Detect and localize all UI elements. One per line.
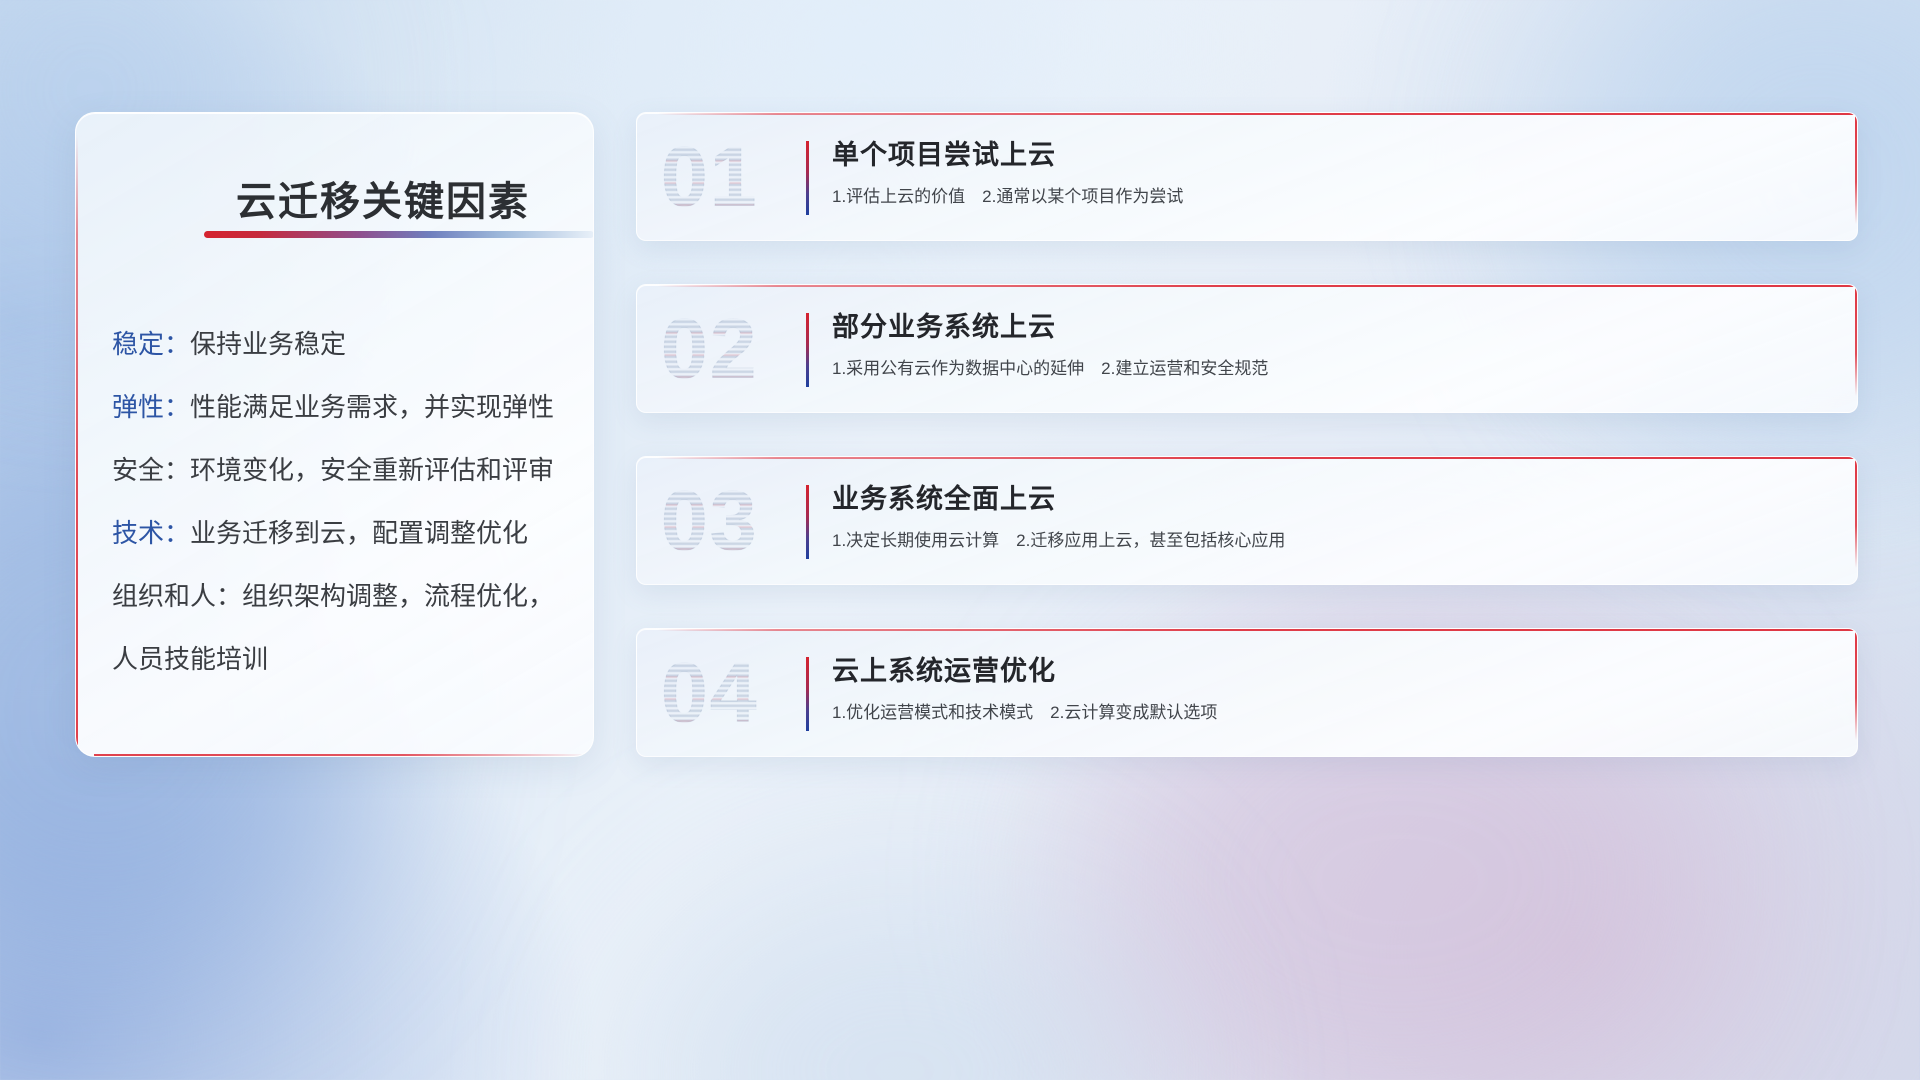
page-title: 云迁移关键因素 [236,169,530,227]
factor-row: 安全：环境变化，安全重新评估和评审 [112,439,569,502]
slide-canvas: 云迁移关键因素 稳定：保持业务稳定 弹性：性能满足业务需求，并实现弹性 安全：环… [0,0,1920,1080]
stage-card-04[interactable]: 04 04 云上系统运营优化 1.优化运营模式和技术模式 2.云计算变成默认选项 [636,628,1858,757]
stage-description: 1.采用公有云作为数据中心的延伸 2.建立运营和安全规范 [832,356,1827,382]
factor-text: 业务迁移到云，配置调整优化 [190,518,528,548]
stage-title: 云上系统运营优化 [832,651,1827,691]
factor-row-continuation: 人员技能培训 [112,628,569,691]
stage-title: 部分业务系统上云 [832,307,1827,347]
factor-label: 安全： [112,455,190,485]
stage-divider-bar [806,313,809,387]
stage-description: 1.评估上云的价值 2.通常以某个项目作为尝试 [832,184,1827,210]
stage-card-02[interactable]: 02 02 部分业务系统上云 1.采用公有云作为数据中心的延伸 2.建立运营和安… [636,284,1858,413]
stage-number-ghost: 02 [661,300,758,397]
factor-text: 人员技能培训 [112,644,268,674]
stage-divider-bar [806,141,809,215]
stage-number-ghost-accent: 02 [661,300,758,397]
factor-list: 稳定：保持业务稳定 弹性：性能满足业务需求，并实现弹性 安全：环境变化，安全重新… [112,313,569,691]
stage-card-03[interactable]: 03 03 业务系统全面上云 1.决定长期使用云计算 2.迁移应用上云，甚至包括… [636,456,1858,585]
stage-card-01[interactable]: 01 01 单个项目尝试上云 1.评估上云的价值 2.通常以某个项目作为尝试 [636,112,1858,241]
stage-number-ghost-accent: 03 [661,472,758,569]
stage-number-ghost: 03 [661,472,758,569]
factor-label: 技术： [112,518,190,548]
stage-card-list: 01 01 单个项目尝试上云 1.评估上云的价值 2.通常以某个项目作为尝试 0… [636,112,1858,800]
factor-text: 组织架构调整，流程优化， [242,581,554,611]
factor-label: 组织和人： [112,581,242,611]
stage-number-ghost-accent: 04 [661,644,758,741]
stage-card-body: 业务系统全面上云 1.决定长期使用云计算 2.迁移应用上云，甚至包括核心应用 [832,479,1827,554]
stage-number-ghost-accent: 01 [661,128,758,225]
stage-description: 1.决定长期使用云计算 2.迁移应用上云，甚至包括核心应用 [832,528,1827,554]
factor-row: 技术：业务迁移到云，配置调整优化 [112,502,569,565]
factor-text: 保持业务稳定 [190,329,346,359]
stage-card-body: 部分业务系统上云 1.采用公有云作为数据中心的延伸 2.建立运营和安全规范 [832,307,1827,382]
factor-label: 弹性： [112,392,190,422]
factor-text: 性能满足业务需求，并实现弹性 [190,392,554,422]
stage-number-ghost: 01 [661,128,758,225]
factor-row: 弹性：性能满足业务需求，并实现弹性 [112,376,569,439]
factor-label: 稳定： [112,329,190,359]
factor-text: 环境变化，安全重新评估和评审 [190,455,554,485]
stage-description: 1.优化运营模式和技术模式 2.云计算变成默认选项 [832,700,1827,726]
factor-row: 组织和人：组织架构调整，流程优化， [112,565,569,628]
stage-divider-bar [806,485,809,559]
stage-divider-bar [806,657,809,731]
stage-title: 单个项目尝试上云 [832,135,1827,175]
key-factors-panel: 云迁移关键因素 稳定：保持业务稳定 弹性：性能满足业务需求，并实现弹性 安全：环… [75,112,594,757]
stage-title: 业务系统全面上云 [832,479,1827,519]
stage-card-body: 单个项目尝试上云 1.评估上云的价值 2.通常以某个项目作为尝试 [832,135,1827,210]
title-underline-gradient [204,231,594,238]
factor-row: 稳定：保持业务稳定 [112,313,569,376]
stage-number-ghost: 04 [661,644,758,741]
stage-card-body: 云上系统运营优化 1.优化运营模式和技术模式 2.云计算变成默认选项 [832,651,1827,726]
